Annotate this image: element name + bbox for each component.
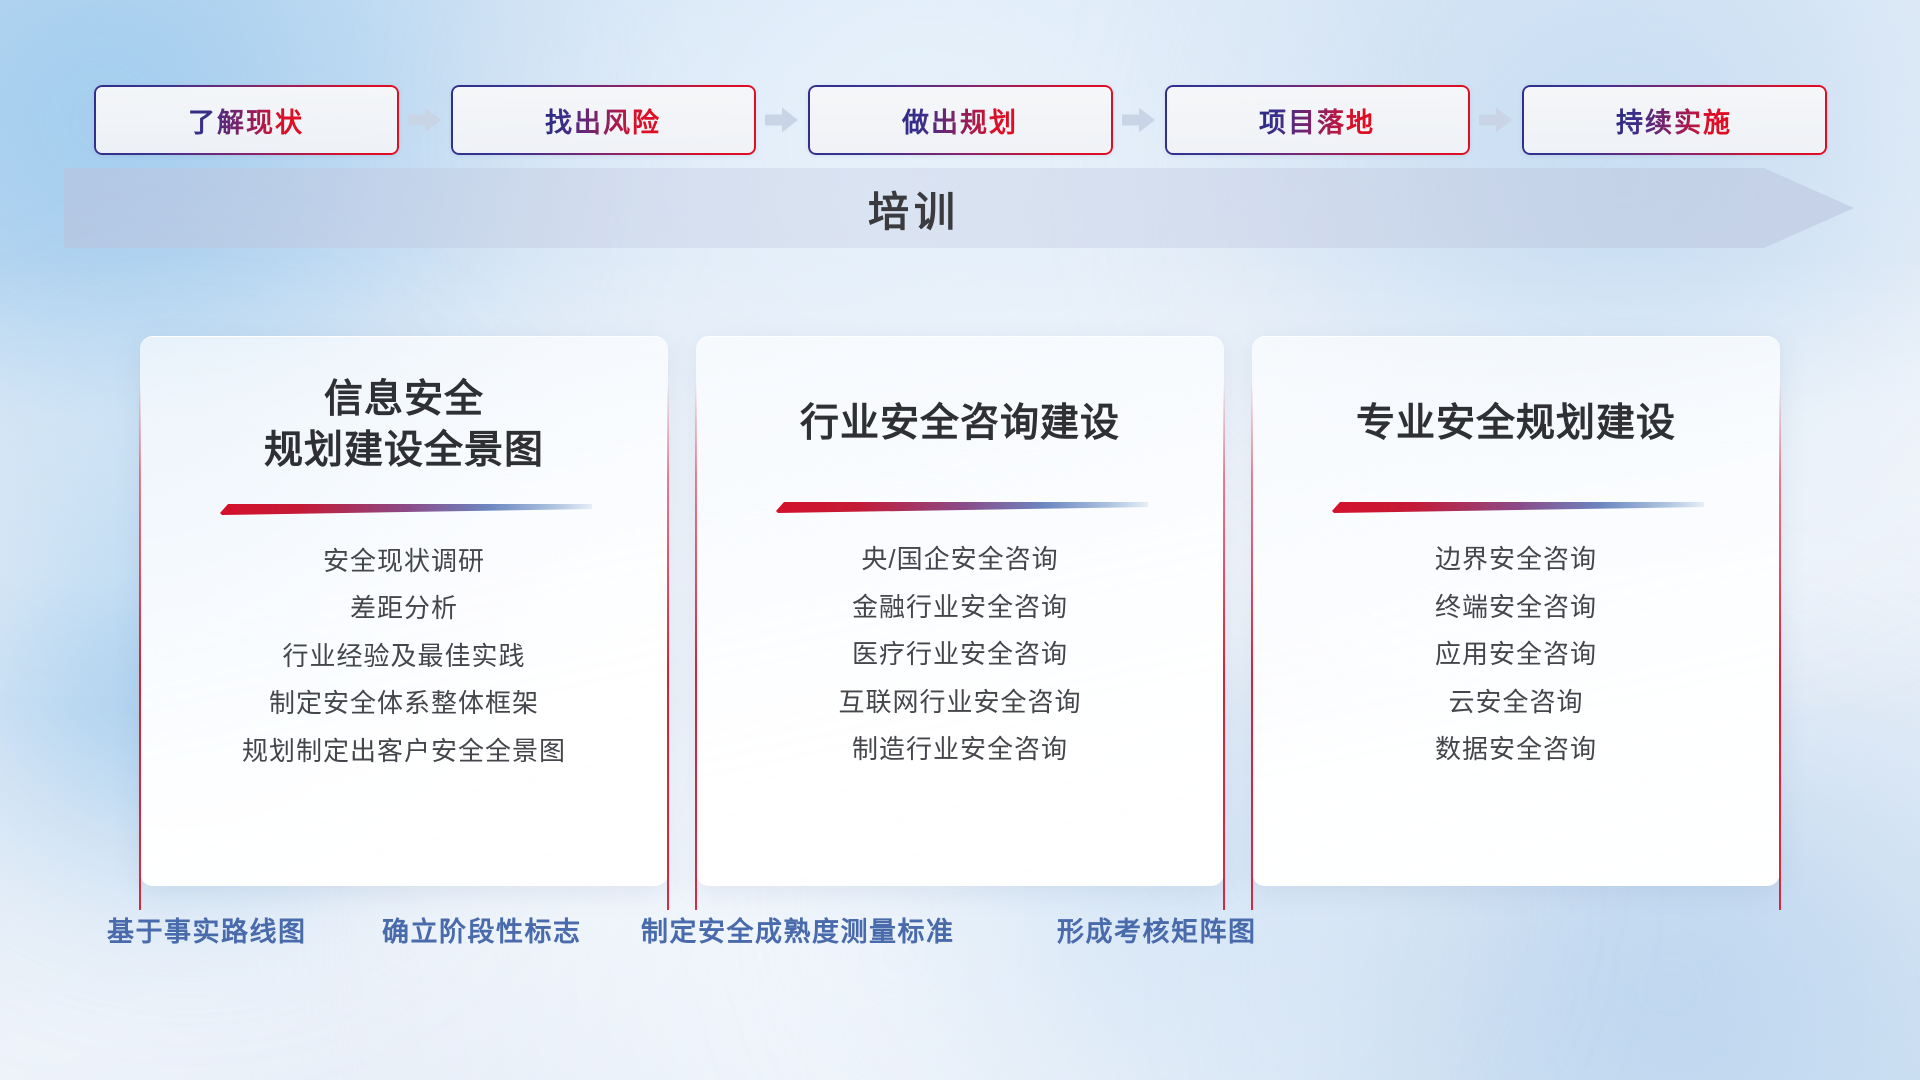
card-content: 行业安全咨询建设央/国企安全咨询金融行业安全咨询医疗行业安全咨询互联网行业安全咨… [696, 336, 1224, 886]
process-step-1[interactable]: 了解现状 [94, 85, 399, 155]
process-step-label: 项目落地 [1259, 101, 1375, 140]
footnote-label-4: 形成考核矩阵图 [1057, 910, 1257, 949]
service-card-3[interactable]: 专业安全规划建设边界安全咨询终端安全咨询应用安全咨询云安全咨询数据安全咨询 [1252, 336, 1780, 886]
card-divider [216, 499, 592, 521]
card-divider-rule [216, 499, 592, 521]
process-step-5[interactable]: 持续实施 [1522, 85, 1827, 155]
process-step-label: 了解现状 [188, 101, 304, 140]
card-list-item[interactable]: 边界安全咨询 [1435, 543, 1597, 576]
card-divider-rule [772, 497, 1148, 519]
process-step-label: 做出规划 [902, 101, 1018, 140]
chevron-right-arrow-icon [765, 107, 799, 133]
footnote-label-1: 基于事实路线图 [107, 910, 307, 949]
step-connector-arrow-4 [1470, 79, 1522, 161]
card-list-item[interactable]: 医疗行业安全咨询 [852, 638, 1068, 671]
card-list-item[interactable]: 应用安全咨询 [1435, 638, 1597, 671]
card-content: 专业安全规划建设边界安全咨询终端安全咨询应用安全咨询云安全咨询数据安全咨询 [1252, 336, 1780, 886]
card-list-item[interactable]: 差距分析 [350, 592, 458, 625]
card-title: 专业安全规划建设 [1356, 398, 1676, 449]
training-banner: 培训 [64, 164, 1854, 252]
process-step-label: 找出风险 [545, 101, 661, 140]
card-divider-rule [1328, 497, 1704, 519]
card-list-item[interactable]: 数据安全咨询 [1435, 733, 1597, 766]
card-list-item[interactable]: 云安全咨询 [1448, 686, 1583, 719]
chevron-right-arrow-icon [1479, 107, 1513, 133]
card-item-list: 安全现状调研差距分析行业经验及最佳实践制定安全体系整体框架规划制定出客户安全全景… [242, 545, 566, 768]
card-list-item[interactable]: 金融行业安全咨询 [852, 591, 1068, 624]
card-list-item[interactable]: 制造行业安全咨询 [852, 733, 1068, 766]
card-title: 行业安全咨询建设 [800, 398, 1120, 449]
process-step-2[interactable]: 找出风险 [451, 85, 756, 155]
chevron-right-arrow-icon [408, 107, 442, 133]
service-card-1[interactable]: 信息安全 规划建设全景图安全现状调研差距分析行业经验及最佳实践制定安全体系整体框… [140, 336, 668, 886]
card-divider [772, 497, 1148, 519]
card-row: 信息安全 规划建设全景图安全现状调研差距分析行业经验及最佳实践制定安全体系整体框… [0, 336, 1920, 886]
card-list-item[interactable]: 央/国企安全咨询 [861, 543, 1058, 576]
footnote-label-2: 确立阶段性标志 [382, 910, 582, 949]
card-item-list: 边界安全咨询终端安全咨询应用安全咨询云安全咨询数据安全咨询 [1435, 543, 1597, 766]
card-list-item[interactable]: 安全现状调研 [323, 545, 485, 578]
process-step-row: 了解现状找出风险做出规划项目落地持续实施 [0, 79, 1920, 161]
card-title: 信息安全 规划建设全景图 [264, 374, 544, 477]
card-list-item[interactable]: 规划制定出客户安全全景图 [242, 735, 566, 768]
chevron-right-arrow-icon [1122, 107, 1156, 133]
process-step-3[interactable]: 做出规划 [808, 85, 1113, 155]
service-card-2[interactable]: 行业安全咨询建设央/国企安全咨询金融行业安全咨询医疗行业安全咨询互联网行业安全咨… [696, 336, 1224, 886]
footnote-label-3: 制定安全成熟度测量标准 [641, 910, 955, 949]
card-item-list: 央/国企安全咨询金融行业安全咨询医疗行业安全咨询互联网行业安全咨询制造行业安全咨… [838, 543, 1081, 766]
step-connector-arrow-3 [1113, 79, 1165, 161]
card-divider [1328, 497, 1704, 519]
banner-title: 培训 [64, 164, 1764, 252]
card-list-item[interactable]: 制定安全体系整体框架 [269, 687, 539, 720]
card-list-item[interactable]: 终端安全咨询 [1435, 591, 1597, 624]
step-connector-arrow-2 [756, 79, 808, 161]
footnote-row: 基于事实路线图确立阶段性标志制定安全成熟度测量标准形成考核矩阵图 [0, 910, 1920, 970]
process-step-4[interactable]: 项目落地 [1165, 85, 1470, 155]
step-connector-arrow-1 [399, 79, 451, 161]
card-content: 信息安全 规划建设全景图安全现状调研差距分析行业经验及最佳实践制定安全体系整体框… [140, 336, 668, 886]
card-list-item[interactable]: 互联网行业安全咨询 [838, 686, 1081, 719]
process-step-label: 持续实施 [1616, 101, 1732, 140]
card-list-item[interactable]: 行业经验及最佳实践 [282, 640, 525, 673]
